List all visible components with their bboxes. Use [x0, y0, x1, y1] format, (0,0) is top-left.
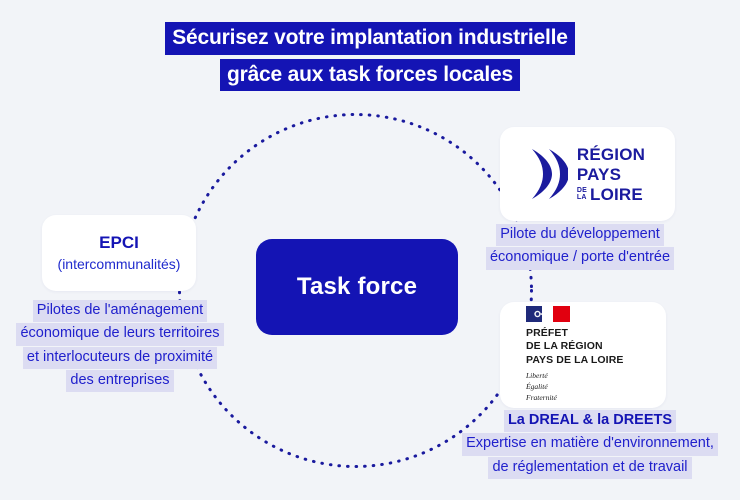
- region-logo-dela: DE LA: [577, 187, 587, 203]
- region-logo-line-loire-row: DE LA LOIRE: [577, 186, 645, 203]
- epci-caption-row-2: économique de leurs territoires: [0, 323, 240, 345]
- epci-caption-line-3: et interlocuteurs de proximité: [23, 347, 217, 369]
- node-card-region[interactable]: RÉGION PAYS DE LA LOIRE: [500, 127, 675, 221]
- title-row-2: grâce aux task forces locales: [0, 59, 740, 96]
- french-flag-icon: [526, 306, 570, 322]
- center-node-task-force[interactable]: Task force: [256, 239, 458, 335]
- region-pays-de-la-loire-logo: RÉGION PAYS DE LA LOIRE: [530, 146, 645, 203]
- title-line-1: Sécurisez votre implantation industriell…: [165, 22, 575, 55]
- node-card-prefet[interactable]: PRÉFET DE LA RÉGION PAYS DE LA LOIRE Lib…: [500, 302, 666, 408]
- region-crescents-icon: [530, 148, 568, 200]
- region-caption-line-1: Pilote du développement: [496, 224, 664, 246]
- epci-caption-line-2: économique de leurs territoires: [16, 323, 223, 345]
- dreal-caption-row-2: de réglementation et de travail: [440, 457, 740, 479]
- region-caption-row-2: économique / porte d'entrée: [470, 247, 690, 269]
- page-title: Sécurisez votre implantation industriell…: [0, 22, 740, 95]
- dreal-caption-line-1: Expertise en matière d'environnement,: [462, 433, 718, 455]
- prefet-line-3: PAYS DE LA LOIRE: [526, 354, 623, 367]
- epci-caption-row-3: et interlocuteurs de proximité: [0, 347, 240, 369]
- region-caption-line-2: économique / porte d'entrée: [486, 247, 674, 269]
- epci-subtitle: (intercommunalités): [58, 256, 181, 274]
- region-logo-la: LA: [577, 194, 587, 201]
- dreal-caption-heading: La DREAL & la DREETS: [504, 410, 676, 432]
- motto-fraternite: Fraternité: [526, 393, 623, 404]
- title-line-2: grâce aux task forces locales: [220, 59, 520, 92]
- region-caption-row-1: Pilote du développement: [470, 224, 690, 246]
- prefet-wordmark: PRÉFET DE LA RÉGION PAYS DE LA LOIRE: [526, 327, 623, 367]
- region-logo-line-pays: PAYS: [577, 166, 645, 183]
- region-logo-loire: LOIRE: [590, 186, 643, 203]
- epci-caption-line-1: Pilotes de l'aménagement: [33, 300, 207, 322]
- republic-motto: Liberté Égalité Fraternité: [526, 371, 623, 404]
- prefet-line-2: DE LA RÉGION: [526, 340, 623, 353]
- region-logo-wordmark: RÉGION PAYS DE LA LOIRE: [577, 146, 645, 203]
- motto-liberte: Liberté: [526, 371, 623, 382]
- epci-caption-row-4: des entreprises: [0, 370, 240, 392]
- epci-caption: Pilotes de l'aménagement économique de l…: [0, 300, 240, 393]
- epci-title: EPCI: [99, 233, 139, 253]
- dreal-caption-line-2: de réglementation et de travail: [488, 457, 691, 479]
- infographic-canvas: Sécurisez votre implantation industriell…: [0, 0, 740, 500]
- region-logo-line-region: RÉGION: [577, 146, 645, 163]
- epci-caption-row-1: Pilotes de l'aménagement: [0, 300, 240, 322]
- node-card-epci[interactable]: EPCI (intercommunalités): [42, 215, 196, 291]
- dreal-caption-row-1: Expertise en matière d'environnement,: [440, 433, 740, 455]
- region-caption: Pilote du développement économique / por…: [470, 224, 690, 271]
- prefet-line-1: PRÉFET: [526, 327, 623, 340]
- task-force-label: Task force: [297, 273, 417, 301]
- prefecture-pays-de-la-loire-logo: PRÉFET DE LA RÉGION PAYS DE LA LOIRE Lib…: [526, 306, 623, 404]
- motto-egalite: Égalité: [526, 382, 623, 393]
- region-logo-de: DE: [577, 187, 587, 194]
- title-row-1: Sécurisez votre implantation industriell…: [0, 22, 740, 59]
- epci-caption-line-4: des entreprises: [66, 370, 173, 392]
- dreal-caption-row-heading: La DREAL & la DREETS: [440, 410, 740, 432]
- dreal-dreets-caption: La DREAL & la DREETS Expertise en matièr…: [440, 410, 740, 480]
